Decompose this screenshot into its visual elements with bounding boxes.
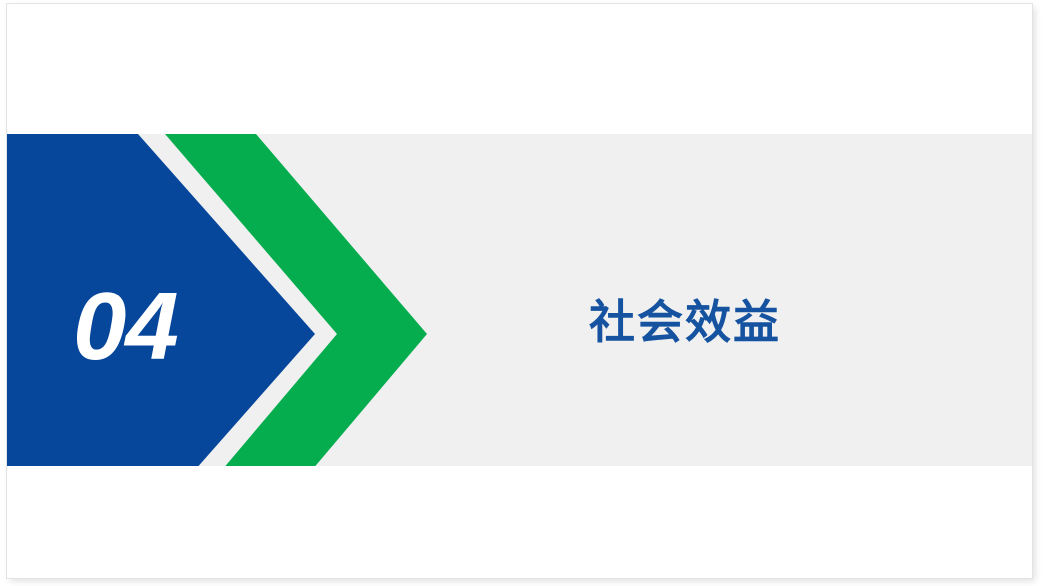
- slide-canvas: 04 社会效益: [0, 0, 1044, 586]
- section-number: 04: [73, 272, 243, 382]
- slide-sheet[interactable]: 04 社会效益: [7, 4, 1032, 578]
- section-title[interactable]: 社会效益: [589, 294, 781, 350]
